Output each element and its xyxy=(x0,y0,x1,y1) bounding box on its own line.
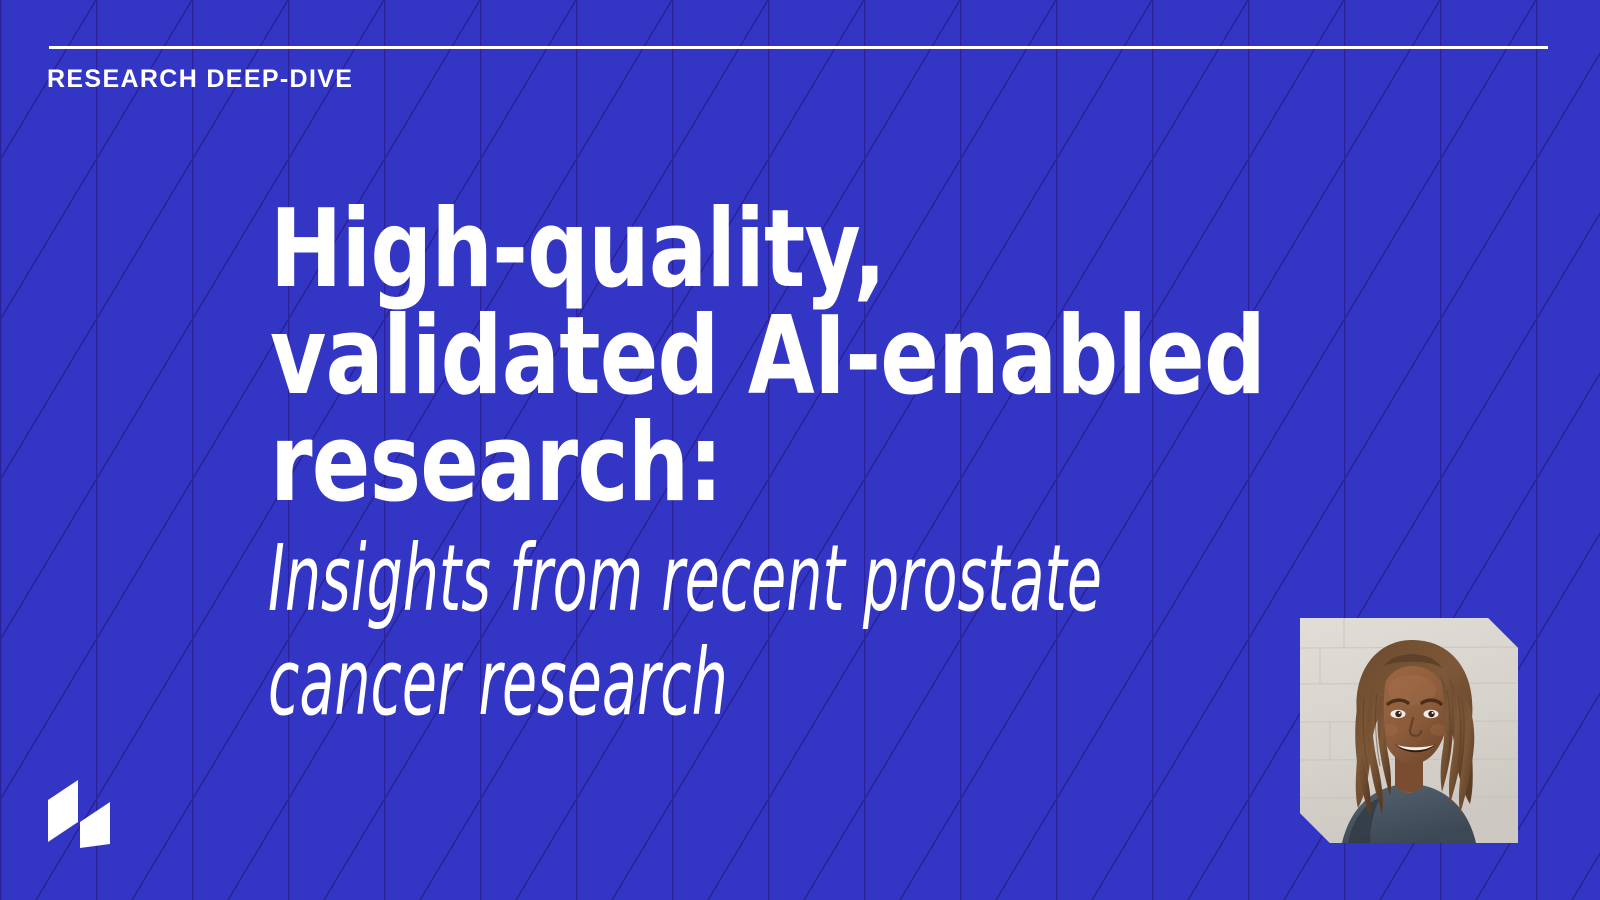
headline-line-1: High-quality, xyxy=(270,196,1054,303)
speaker-headshot xyxy=(1300,618,1518,843)
headshot-image xyxy=(1300,618,1518,843)
headline: High-quality, validated AI-enabled resea… xyxy=(270,196,1250,517)
subtitle-line-1: Insights from recent prostate xyxy=(268,527,888,631)
headline-line-3: research: xyxy=(270,410,1054,517)
brand-logo-icon xyxy=(48,756,128,848)
subtitle-line-2: cancer research xyxy=(268,631,888,735)
headline-line-2: validated AI-enabled xyxy=(270,303,1054,410)
header-rule xyxy=(49,46,1548,49)
eyebrow-label: RESEARCH DEEP-DIVE xyxy=(47,64,353,94)
subtitle: Insights from recent prostate cancer res… xyxy=(268,527,1268,735)
